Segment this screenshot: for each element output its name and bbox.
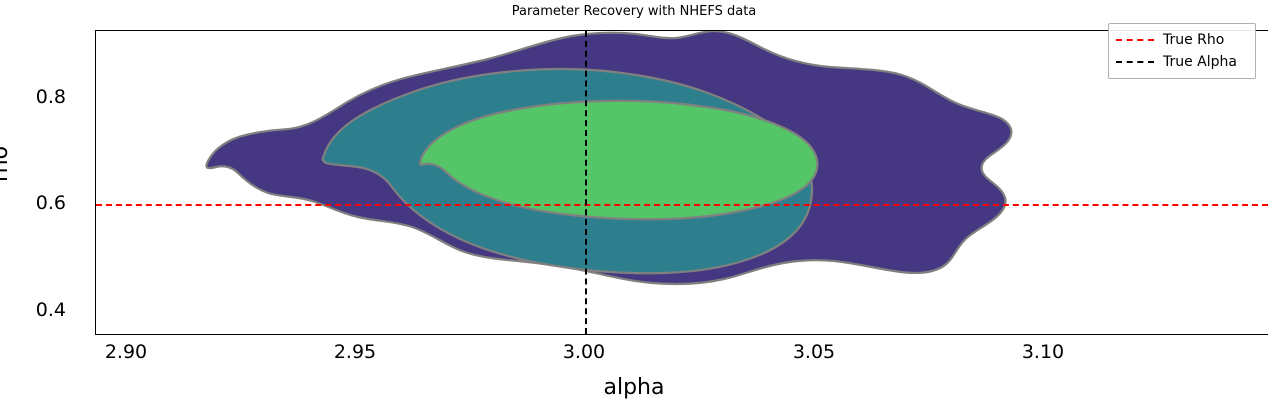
ytick-mark-0.8: [95, 98, 96, 99]
xtick-label-3.10: 3.10: [1022, 341, 1064, 363]
legend-entry-true-rho: True Rho: [1116, 29, 1249, 51]
figure-canvas: Parameter Recovery with NHEFS data 0.8 0…: [0, 0, 1268, 417]
ytick-label-0.8: 0.8: [36, 86, 66, 108]
legend-box: True Rho True Alpha: [1108, 23, 1256, 79]
xtick-label-3.00: 3.00: [563, 341, 605, 363]
xtick-mark-2.95: [356, 334, 357, 335]
ytick-mark-0.4: [95, 311, 96, 312]
dashed-line-icon-black: [1116, 61, 1154, 63]
legend-label-true-alpha: True Alpha: [1163, 54, 1237, 70]
ytick-label-0.4: 0.4: [36, 299, 66, 321]
xtick-mark-3.00: [585, 334, 586, 335]
legend-entry-true-alpha: True Alpha: [1116, 51, 1249, 73]
xtick-label-2.95: 2.95: [334, 341, 376, 363]
xtick-label-2.90: 2.90: [105, 341, 147, 363]
ytick-label-0.6: 0.6: [36, 192, 66, 214]
y-axis-label: rho: [0, 146, 13, 182]
xtick-label-3.05: 3.05: [793, 341, 835, 363]
ytick-mark-0.6: [95, 204, 96, 205]
xtick-mark-3.05: [815, 334, 816, 335]
true-rho-line: [96, 204, 1268, 206]
true-alpha-line: [585, 31, 587, 334]
xtick-mark-3.10: [1044, 334, 1045, 335]
dashed-line-icon-red: [1116, 39, 1154, 41]
contour-plot: [96, 31, 1268, 335]
plot-area: [95, 30, 1268, 335]
chart-title: Parameter Recovery with NHEFS data: [0, 4, 1268, 19]
x-axis-label: alpha: [0, 375, 1268, 400]
legend-label-true-rho: True Rho: [1163, 32, 1224, 48]
xtick-mark-2.90: [127, 334, 128, 335]
